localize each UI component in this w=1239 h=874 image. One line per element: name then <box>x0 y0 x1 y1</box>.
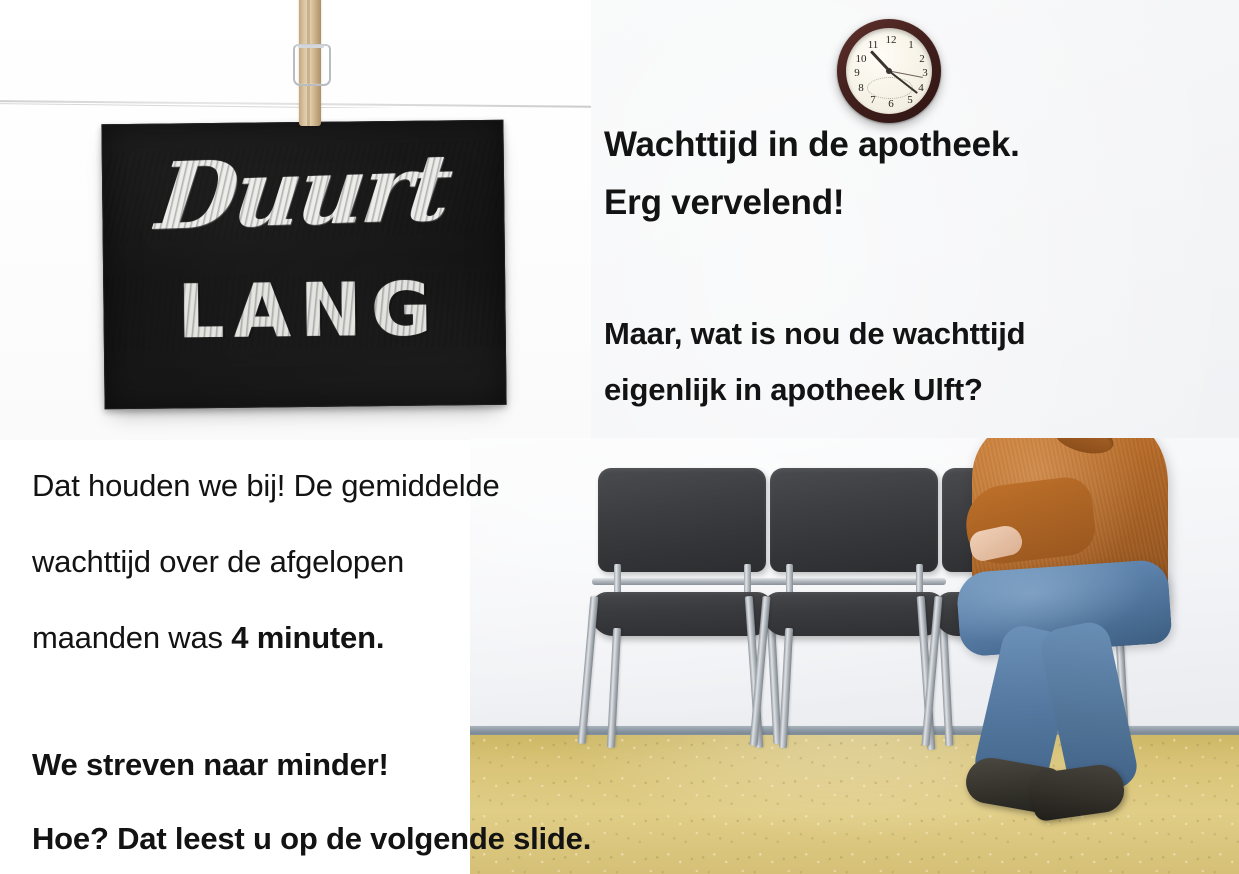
clock-numeral-1: 1 <box>904 40 918 51</box>
seated-person <box>958 438 1239 874</box>
clock-numeral-5: 5 <box>903 95 917 106</box>
clock-subdial <box>867 77 913 99</box>
clock-numeral-12: 12 <box>884 35 898 46</box>
clock-center-cap <box>886 68 892 74</box>
body-line-2: wachttijd over de afgelopen <box>32 524 672 600</box>
body-line-1: Dat houden we bij! De gemiddelde <box>32 448 672 524</box>
call-to-action-block: We streven naar minder! Hoe? Dat leest u… <box>32 728 792 874</box>
average-wait-emphasis: 4 minuten. <box>231 620 384 655</box>
clock-numeral-6: 6 <box>884 99 898 110</box>
wall-clock-icon: 12 1 2 3 4 5 6 7 8 9 10 11 <box>837 19 941 123</box>
question-block: Maar, wat is nou de wachttijd eigenlijk … <box>604 306 1124 418</box>
question-line-1: Maar, wat is nou de wachttijd <box>604 306 1124 362</box>
heading-block: Wachttijd in de apotheek. Erg vervelend! <box>604 116 1194 232</box>
heading-line-1: Wachttijd in de apotheek. <box>604 116 1194 174</box>
chair-backrest <box>770 468 938 572</box>
clock-numeral-11: 11 <box>866 40 880 51</box>
clothespin-spring <box>293 44 331 86</box>
heading-line-2: Erg vervelend! <box>604 174 1194 232</box>
chalkboard-sign: Duurt LANG <box>101 120 506 410</box>
question-line-2: eigenlijk in apotheek Ulft? <box>604 362 1124 418</box>
cta-line-2: Hoe? Dat leest u op de volgende slide. <box>32 802 792 874</box>
body-line-3-prefix: maanden was <box>32 620 231 655</box>
clock-face: 12 1 2 3 4 5 6 7 8 9 10 11 <box>846 28 932 114</box>
body-block: Dat houden we bij! De gemiddelde wachtti… <box>32 448 672 676</box>
clock-numeral-2: 2 <box>915 54 929 65</box>
chalkboard-script-word: Duurt <box>101 139 506 244</box>
clock-numeral-8: 8 <box>854 83 868 94</box>
slide-canvas: Duurt LANG 12 1 2 3 4 5 6 7 8 9 10 11 <box>0 0 1239 874</box>
clock-numeral-10: 10 <box>854 54 868 65</box>
clock-numeral-9: 9 <box>850 68 864 79</box>
clothespin-icon <box>299 0 321 126</box>
clothesline <box>0 96 591 108</box>
body-line-3: maanden was 4 minuten. <box>32 600 672 676</box>
chalkboard-caps-word: LANG <box>103 272 506 351</box>
cta-line-1: We streven naar minder! <box>32 728 792 802</box>
chalkboard-photo: Duurt LANG <box>0 0 591 440</box>
